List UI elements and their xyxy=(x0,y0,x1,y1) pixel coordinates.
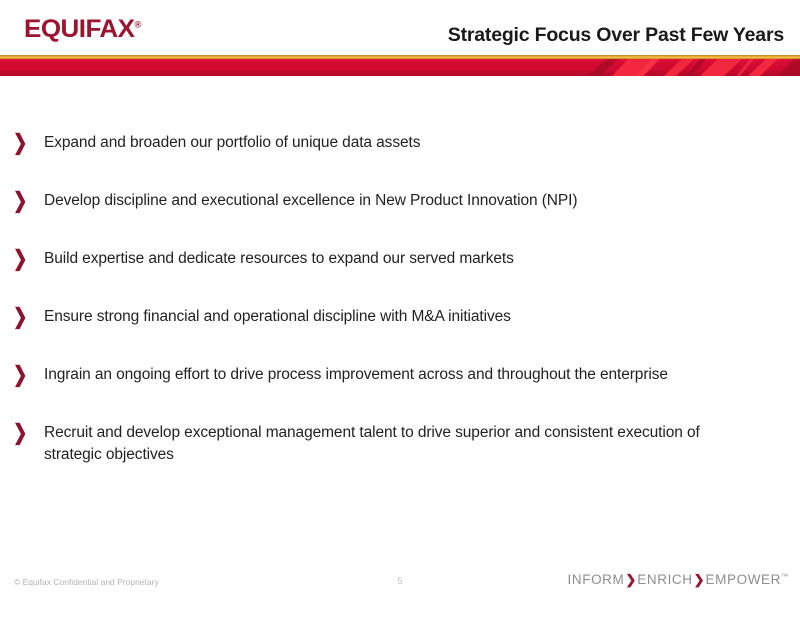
list-item: ❯ Recruit and develop exceptional manage… xyxy=(0,422,800,466)
page-title: Strategic Focus Over Past Few Years xyxy=(448,24,784,47)
slide-header: EQUIFAX® Strategic Focus Over Past Few Y… xyxy=(0,0,800,55)
list-item-label: Ingrain an ongoing effort to drive proce… xyxy=(44,364,759,386)
slide: EQUIFAX® Strategic Focus Over Past Few Y… xyxy=(0,0,800,618)
streak-shapes xyxy=(0,59,800,76)
tagline-word-empower: EMPOWER xyxy=(706,572,781,587)
list-item-label: Recruit and develop exceptional manageme… xyxy=(44,422,759,466)
list-item: ❯ Ensure strong financial and operationa… xyxy=(0,306,800,328)
list-item-label: Develop discipline and executional excel… xyxy=(44,190,759,212)
list-item-label: Expand and broaden our portfolio of uniq… xyxy=(44,132,759,154)
list-item: ❯ Expand and broaden our portfolio of un… xyxy=(0,132,800,154)
equifax-logo: EQUIFAX® xyxy=(24,17,141,42)
chevron-bullet-icon: ❯ xyxy=(13,361,44,389)
brand-tagline: INFORM❯ENRICH❯EMPOWER™ xyxy=(568,572,788,588)
trademark-icon: ™ xyxy=(781,574,788,581)
list-item: ❯ Build expertise and dedicate resources… xyxy=(0,248,800,270)
slide-footer: © Equifax Confidential and Proprietary 5… xyxy=(0,568,800,618)
list-item-label: Ensure strong financial and operational … xyxy=(44,306,759,328)
chevron-icon: ❯ xyxy=(693,572,706,587)
list-item-label: Build expertise and dedicate resources t… xyxy=(44,248,759,270)
accent-band xyxy=(0,55,800,76)
accent-band-streaks xyxy=(0,59,800,76)
registered-trademark-icon: ® xyxy=(135,20,142,30)
list-item: ❯ Develop discipline and executional exc… xyxy=(0,190,800,212)
list-item: ❯ Ingrain an ongoing effort to drive pro… xyxy=(0,364,800,386)
chevron-bullet-icon: ❯ xyxy=(13,419,44,447)
tagline-word-enrich: ENRICH xyxy=(637,572,692,587)
equifax-logo-text: EQUIFAX xyxy=(24,15,135,43)
chevron-bullet-icon: ❯ xyxy=(13,245,44,273)
chevron-bullet-icon: ❯ xyxy=(13,303,44,331)
chevron-bullet-icon: ❯ xyxy=(13,187,44,215)
chevron-bullet-icon: ❯ xyxy=(13,129,44,157)
bullet-list: ❯ Expand and broaden our portfolio of un… xyxy=(0,132,800,502)
chevron-icon: ❯ xyxy=(624,572,637,587)
tagline-word-inform: INFORM xyxy=(568,572,625,587)
